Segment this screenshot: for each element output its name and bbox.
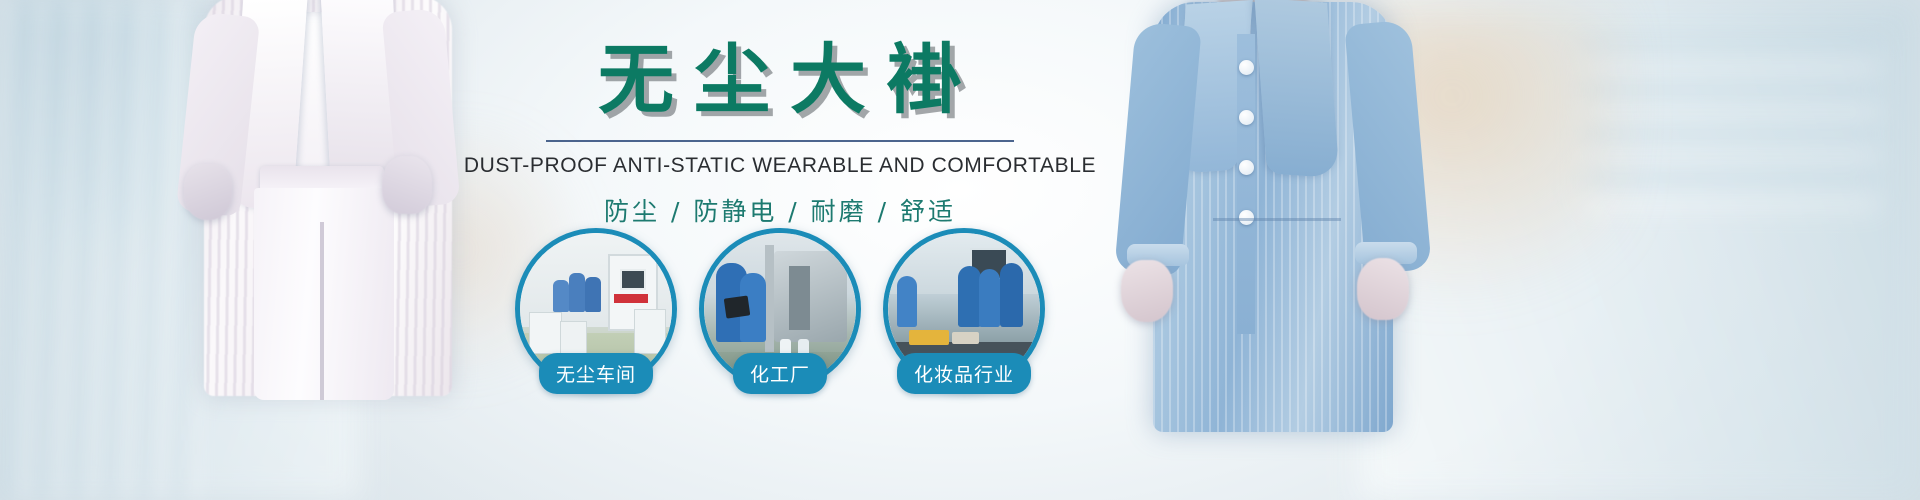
model-lapel-right	[1255, 0, 1340, 178]
model-glove-left	[184, 164, 232, 220]
model-button	[1239, 110, 1254, 125]
blue-lab-coat-model	[1105, 0, 1445, 500]
badge-label: 化妆品行业	[897, 353, 1031, 394]
badge-chemical-plant[interactable]: 化工厂	[699, 228, 861, 390]
model-waist-seam	[1213, 218, 1341, 221]
model-button-placket	[1237, 34, 1255, 334]
model-button	[1239, 160, 1254, 175]
model-glove-left	[1121, 260, 1173, 322]
badge-label: 化工厂	[733, 353, 827, 394]
white-cleanroom-suit-model	[150, 0, 510, 500]
subtitle-chinese: 防尘 / 防静电 / 耐磨 / 舒适	[604, 192, 956, 228]
model-button	[1239, 60, 1254, 75]
product-banner: 无尘大褂 DUST-PROOF ANTI-STATIC WEARABLE AND…	[0, 0, 1920, 500]
application-badges: 无尘车间 化工厂 化妆品行业	[480, 228, 1080, 398]
model-glove-right	[1357, 258, 1409, 320]
banner-title: 无尘大褂	[578, 42, 982, 118]
badge-cosmetics-industry[interactable]: 化妆品行业	[883, 228, 1045, 390]
model-trousers	[254, 188, 394, 400]
subtitle-english: DUST-PROOF ANTI-STATIC WEARABLE AND COMF…	[464, 154, 1096, 178]
title-divider	[546, 140, 1014, 142]
badge-label: 无尘车间	[539, 353, 653, 394]
badge-cleanroom-workshop[interactable]: 无尘车间	[515, 228, 677, 390]
model-glove-right	[382, 156, 432, 214]
